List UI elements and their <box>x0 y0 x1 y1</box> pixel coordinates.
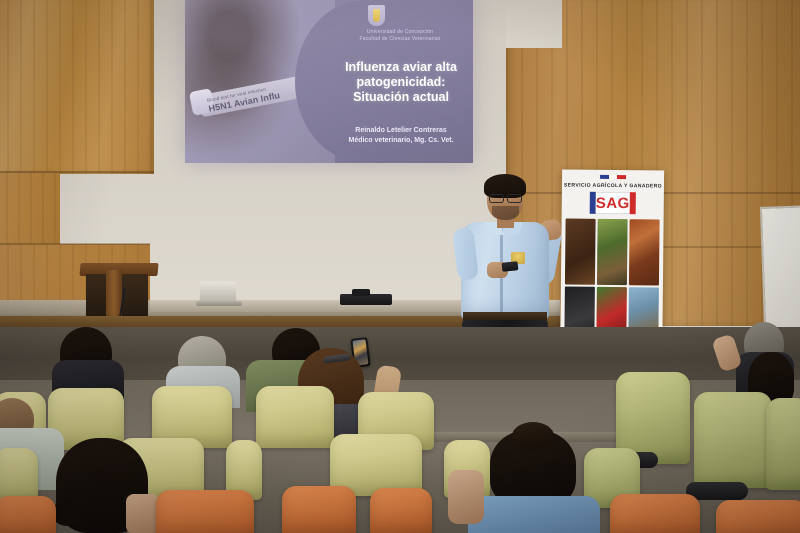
laptop-base <box>196 301 242 306</box>
laptop <box>200 281 237 302</box>
av-control-box-secondary <box>352 289 370 296</box>
attendee-hand <box>126 494 160 533</box>
seat <box>282 486 356 533</box>
chile-flag-icon <box>600 175 626 179</box>
sag-logo-text-box: SAG <box>596 192 630 214</box>
wood-seam <box>0 171 154 173</box>
seat <box>610 494 700 533</box>
slide-institution-line-1: Universidad de Concepción <box>330 29 470 35</box>
banner-photo-tile <box>565 219 596 285</box>
university-shield-crest-icon <box>368 5 385 26</box>
attendee-ponytail <box>52 500 82 526</box>
speaker-belt <box>463 312 547 320</box>
slide-presenter-name: Reinaldo Letelier Contreras <box>330 126 472 136</box>
slide-title-line-2: patogenicidad: <box>330 75 472 90</box>
slide-institution-line-2: Facultad de Ciencias Veterinarias <box>330 36 470 42</box>
seat <box>716 500 800 533</box>
attendee-hand <box>448 470 484 524</box>
wood-seam <box>0 243 150 245</box>
sag-logo: SAG <box>590 192 636 214</box>
wood-panel-left-upper <box>0 0 154 174</box>
seat <box>370 488 432 533</box>
seat <box>256 386 334 448</box>
slide-title-line-3: Situación actual <box>330 90 472 105</box>
slide-presenter-block: Reinaldo Letelier Contreras Médico veter… <box>330 126 472 146</box>
seat <box>694 392 772 488</box>
speaker-beard <box>492 206 519 220</box>
whiteboard-panel <box>760 205 800 331</box>
slide-title-line-1: Influenza aviar alta <box>330 60 472 75</box>
banner-tagline: SERVICIO AGRÍCOLA Y GANADERO <box>562 182 664 189</box>
presentation-photograph: Blood test for viral infection H5N1 Avia… <box>0 0 800 533</box>
attendee-body <box>468 496 600 533</box>
banner-photo-tile <box>597 219 628 285</box>
sag-logo-red-bar <box>630 192 636 214</box>
sag-logo-text: SAG <box>596 194 630 211</box>
attendee-hair-bun <box>512 422 554 450</box>
seat <box>156 490 254 533</box>
slide-presenter-credentials: Médico veterinario, Mg. Cs. Vet. <box>330 136 472 146</box>
eyeglasses-icon <box>489 194 522 201</box>
seat <box>0 496 56 533</box>
wall-notch <box>506 0 562 48</box>
seat <box>766 398 800 490</box>
slide-title: Influenza aviar alta patogenicidad: Situ… <box>330 60 472 105</box>
banner-photo-tile <box>629 219 660 285</box>
presentation-clicker <box>502 261 519 272</box>
